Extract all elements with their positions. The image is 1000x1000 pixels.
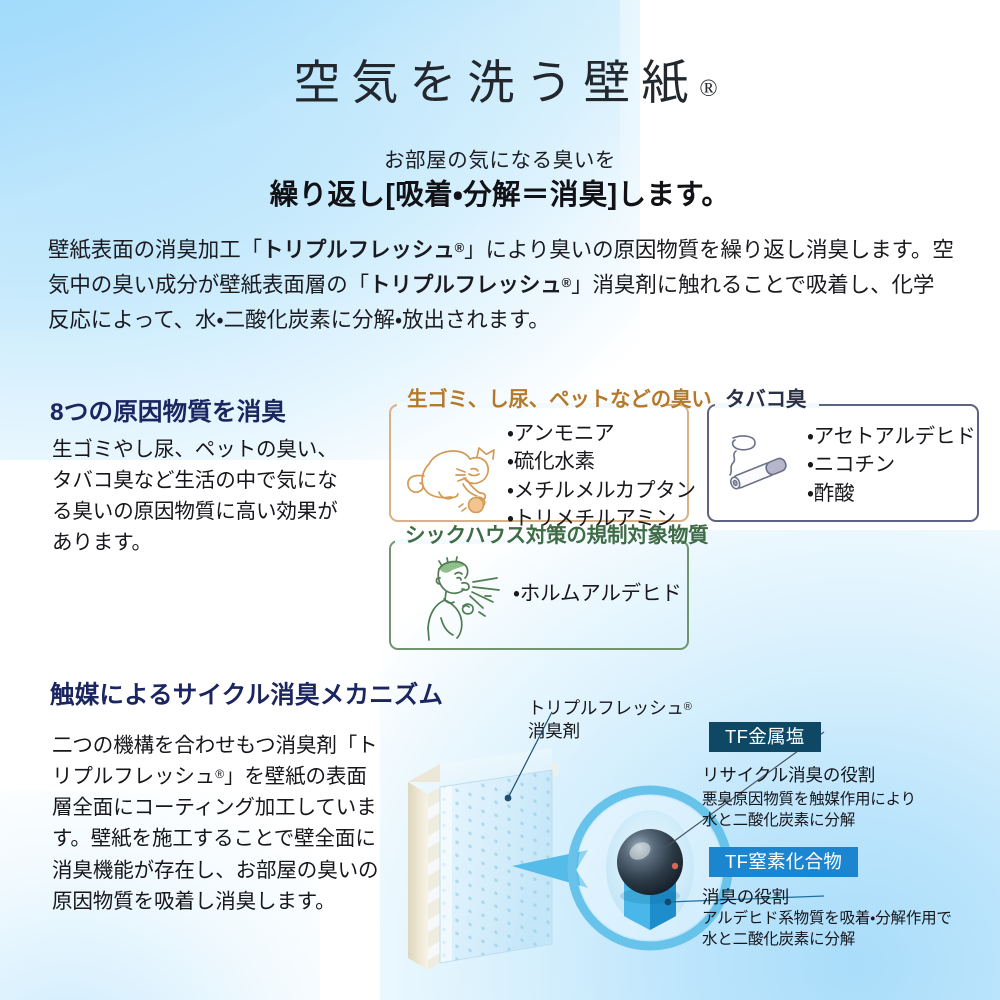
intro-reg-2: ®	[562, 275, 571, 290]
mechanism-body-reg: ®	[215, 767, 224, 781]
intro-brand-1: トリプルフレッシュ	[262, 238, 455, 262]
odor-item: ・アセトアルデヒド	[807, 423, 976, 451]
registered-trademark-icon: ®	[699, 76, 717, 102]
odor-item-list-sickhouse: ・ホルムアルデヒド	[513, 580, 682, 608]
intro-text-1: 壁紙表面の消臭加工「	[48, 238, 262, 262]
tf-desc-line: 水と二酸化炭素に分解	[702, 929, 952, 950]
intro-brand-2: トリプルフレッシュ	[369, 273, 562, 297]
odor-box-sickhouse: シックハウス対策の規制対象物質	[389, 540, 689, 650]
coughing-person-icon	[415, 552, 507, 644]
tf-metal-salt-sphere	[617, 829, 683, 904]
section-body-mechanism: 二つの機構を合わせもつ消臭剤「トリプルフレッシュ®」を壁紙の表面層全面にコーティ…	[52, 730, 382, 917]
tf-role-nitrogen-compound: 消臭の役割	[702, 884, 789, 909]
odor-box-title-sickhouse: シックハウス対策の規制対象物質	[399, 526, 716, 547]
subtitle-lead: お部屋の気になる臭いを	[0, 143, 1000, 173]
subtitle-strong: 繰り返し[吸着・分解＝消臭]します。	[0, 172, 1000, 213]
cigarette-icon	[717, 430, 803, 502]
odor-item: ・ホルムアルデヒド	[513, 580, 682, 608]
tf-chip-metal-salt: TF金属塩	[709, 722, 821, 752]
odor-box-title-garbage: 生ゴミ、し尿、ペットなどの臭い	[401, 390, 720, 411]
odor-box-tobacco: タバコ臭 ・アセトアルデヒド ・ニコチン ・酢酸	[707, 404, 979, 522]
page-root: 空気を洗う壁紙® お部屋の気になる臭いを 繰り返し[吸着・分解＝消臭]します。 …	[0, 0, 1000, 1000]
tf-desc-line: 悪臭原因物質を触媒作用により	[702, 789, 916, 810]
odor-box-title-tobacco: タバコ臭	[719, 390, 814, 411]
intro-paragraph: 壁紙表面の消臭加工「トリプルフレッシュ®」により臭いの原因物質を繰り返し消臭しま…	[48, 233, 954, 337]
tf-chip-nitrogen-compound: TF窒素化合物	[709, 847, 858, 877]
odor-item: ・メチルメルカプタン	[507, 477, 696, 505]
odor-item: ・酢酸	[807, 480, 976, 508]
cat-playing-icon	[399, 428, 507, 514]
odor-box-garbage: 生ゴミ、し尿、ペットなどの臭い	[389, 404, 689, 522]
odor-item-list-tobacco: ・アセトアルデヒド ・ニコチン ・酢酸	[807, 423, 976, 508]
tf-description-metal-salt: 悪臭原因物質を触媒作用により 水と二酸化炭素に分解	[702, 789, 916, 832]
tf-description-nitrogen-compound: アルデヒド系物質を吸着・分解作用で 水と二酸化炭素に分解	[702, 908, 952, 951]
odor-item-list-garbage: ・アンモニア ・硫化水素 ・メチルメルカプタン ・トリメチルアミン	[507, 420, 696, 533]
tf-role-metal-salt: リサイクル消臭の役割	[702, 762, 875, 787]
section-heading-odor: 8つの原因物質を消臭	[50, 393, 286, 428]
tf-desc-line: アルデヒド系物質を吸着・分解作用で	[702, 908, 952, 929]
odor-item: ・硫化水素	[507, 448, 696, 476]
odor-item: ・ニコチン	[807, 451, 976, 479]
section-heading-mechanism: 触媒によるサイクル消臭メカニズム	[50, 676, 443, 711]
intro-reg-1: ®	[455, 240, 464, 255]
wallpaper-cross-section	[408, 748, 558, 970]
page-title: 空気を洗う壁紙®	[0, 44, 1000, 113]
section-body-odor: 生ゴミやし尿、ペットの臭い、タバコ臭など生活の中で気になる臭いの原因物質に高い効…	[52, 434, 352, 559]
odor-item: ・アンモニア	[507, 420, 696, 448]
page-title-text: 空気を洗う壁紙	[293, 58, 699, 110]
tf-desc-line: 水と二酸化炭素に分解	[702, 810, 916, 831]
